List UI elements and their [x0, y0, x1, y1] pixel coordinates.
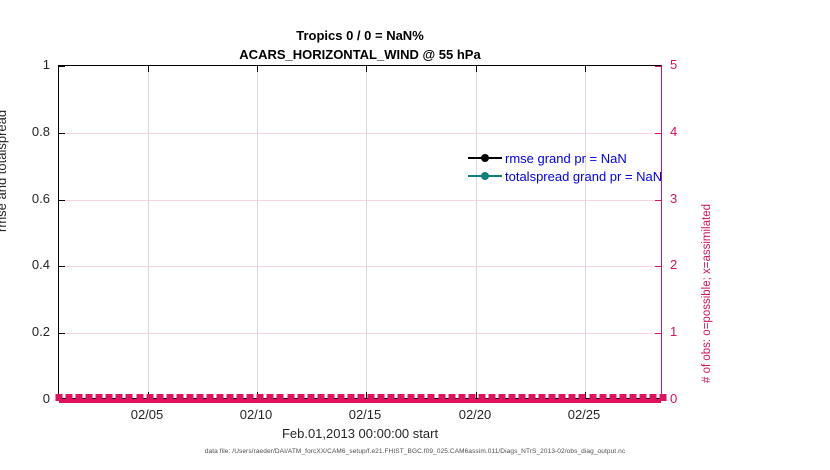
obs-count-marker [106, 394, 113, 401]
tick-mark-right [655, 133, 661, 134]
obs-count-marker [398, 394, 405, 401]
figure-canvas: { "title": { "line1": "Tropics 0 / 0 = N… [0, 0, 830, 470]
tick-mark-right [655, 266, 661, 267]
obs-count-marker [297, 394, 304, 401]
obs-count-marker [237, 394, 244, 401]
obs-count-marker [428, 394, 435, 401]
obs-count-marker [136, 394, 143, 401]
y-axis-left-tick-label: 0.6 [2, 191, 50, 206]
legend-label-rmse: rmse grand pr = NaN [505, 151, 627, 166]
obs-count-marker [539, 394, 546, 401]
obs-count-marker [629, 394, 636, 401]
obs-count-marker [368, 394, 375, 401]
gridline-vertical [476, 66, 477, 398]
obs-count-marker [66, 394, 73, 401]
obs-count-marker [358, 394, 365, 401]
gridline-horizontal [59, 133, 661, 134]
legend-swatch-totalspread [468, 170, 502, 182]
datafile-caption: data file: /Users/raeder/DAI/ATM_forcXX/… [0, 448, 830, 455]
obs-count-marker [337, 394, 344, 401]
x-axis-tick-label: 02/20 [445, 407, 505, 422]
obs-count-marker [257, 394, 264, 401]
y-axis-right-tick-label: 5 [670, 57, 677, 72]
tick-mark-top [476, 66, 477, 72]
tick-mark-left [59, 200, 65, 201]
obs-count-marker [176, 394, 183, 401]
legend: rmse grand pr = NaN totalspread grand pr… [468, 149, 718, 185]
y-axis-right-tick-label: 4 [670, 124, 677, 139]
obs-count-marker [156, 394, 163, 401]
obs-count-marker [488, 394, 495, 401]
legend-item-totalspread: totalspread grand pr = NaN [468, 167, 718, 185]
obs-count-marker [529, 394, 536, 401]
obs-count-marker [96, 394, 103, 401]
obs-count-marker [559, 394, 566, 401]
obs-count-marker [599, 394, 606, 401]
obs-count-marker [166, 394, 173, 401]
obs-count-marker [116, 394, 123, 401]
obs-count-markers [59, 393, 661, 401]
obs-count-marker [438, 394, 445, 401]
tick-mark-right [655, 66, 661, 67]
obs-count-marker [589, 394, 596, 401]
x-axis-title: Feb.01,2013 00:00:00 start [58, 426, 662, 441]
obs-count-marker [498, 394, 505, 401]
obs-count-marker [660, 394, 667, 401]
y-axis-left-tick-label: 0.8 [2, 124, 50, 139]
obs-count-marker [468, 394, 475, 401]
tick-mark-top [585, 66, 586, 72]
obs-count-marker [207, 394, 214, 401]
x-axis-tick-label: 02/15 [335, 407, 395, 422]
tick-mark-top [366, 66, 367, 72]
obs-count-marker [277, 394, 284, 401]
obs-count-marker [146, 394, 153, 401]
y-axis-left-tick-label: 1 [2, 57, 50, 72]
obs-count-marker [509, 394, 516, 401]
tick-mark-left [59, 266, 65, 267]
obs-count-marker [287, 394, 294, 401]
obs-count-marker [196, 394, 203, 401]
obs-count-marker [519, 394, 526, 401]
obs-count-marker [378, 394, 385, 401]
tick-mark-right [655, 333, 661, 334]
gridline-vertical [585, 66, 586, 398]
obs-count-marker [247, 394, 254, 401]
y-axis-left-title: rmse and totalspread [0, 32, 9, 232]
obs-count-marker [649, 394, 656, 401]
obs-count-marker [126, 394, 133, 401]
y-axis-right-tick-label: 3 [670, 191, 677, 206]
obs-count-marker [569, 394, 576, 401]
obs-count-marker [347, 394, 354, 401]
obs-count-marker [186, 394, 193, 401]
obs-count-marker [217, 394, 224, 401]
obs-count-marker [76, 394, 83, 401]
y-axis-right-tick-label: 0 [670, 391, 677, 406]
gridline-horizontal [59, 333, 661, 334]
title-line-2: ACARS_HORIZONTAL_WIND @ 55 hPa [58, 45, 662, 64]
legend-label-totalspread: totalspread grand pr = NaN [505, 169, 662, 184]
y-axis-left-tick-label: 0.2 [2, 324, 50, 339]
obs-count-marker [609, 394, 616, 401]
obs-count-marker [549, 394, 556, 401]
y-axis-right-title: # of obs: o=possible; x=assimilated [701, 43, 713, 383]
plot-area: rmse grand pr = NaN totalspread grand pr… [58, 65, 662, 399]
obs-count-marker [579, 394, 586, 401]
y-axis-right-tick-label: 1 [670, 324, 677, 339]
x-axis-tick-label: 02/25 [554, 407, 614, 422]
gridline-vertical [148, 66, 149, 398]
tick-mark-top [148, 66, 149, 72]
obs-count-marker [448, 394, 455, 401]
obs-count-marker [458, 394, 465, 401]
obs-count-marker [227, 394, 234, 401]
obs-count-marker [86, 394, 93, 401]
obs-count-marker [388, 394, 395, 401]
obs-count-marker [639, 394, 646, 401]
tick-mark-left [59, 133, 65, 134]
obs-count-marker [418, 394, 425, 401]
obs-count-marker [478, 394, 485, 401]
x-axis-tick-label: 02/05 [117, 407, 177, 422]
obs-count-marker [307, 394, 314, 401]
legend-swatch-rmse [468, 152, 502, 164]
obs-count-marker [619, 394, 626, 401]
tick-mark-right [655, 200, 661, 201]
gridline-horizontal [59, 200, 661, 201]
y-axis-right-tick-label: 2 [670, 257, 677, 272]
obs-count-marker [408, 394, 415, 401]
legend-item-rmse: rmse grand pr = NaN [468, 149, 718, 167]
obs-count-marker [317, 394, 324, 401]
tick-mark-top [257, 66, 258, 72]
gridline-vertical [366, 66, 367, 398]
gridline-horizontal [59, 266, 661, 267]
tick-mark-left [59, 66, 65, 67]
page-title: Tropics 0 / 0 = NaN% ACARS_HORIZONTAL_WI… [58, 26, 662, 64]
obs-count-marker [56, 394, 63, 401]
y-axis-left-tick-label: 0.4 [2, 257, 50, 272]
obs-count-marker [267, 394, 274, 401]
title-line-1: Tropics 0 / 0 = NaN% [58, 26, 662, 45]
y-axis-left-tick-label: 0 [2, 391, 50, 406]
obs-count-marker [327, 394, 334, 401]
tick-mark-left [59, 333, 65, 334]
x-axis-tick-label: 02/10 [226, 407, 286, 422]
gridline-vertical [257, 66, 258, 398]
